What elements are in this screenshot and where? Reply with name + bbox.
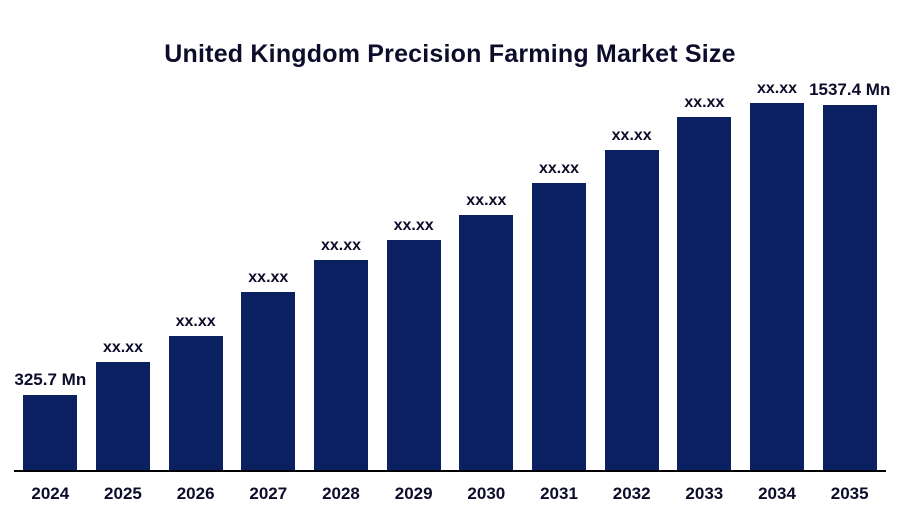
bar-group: xx.xx xyxy=(305,80,378,470)
x-tick-label: 2029 xyxy=(377,484,450,504)
x-tick-label: 2030 xyxy=(450,484,523,504)
bar[interactable] xyxy=(459,215,513,470)
plot-area: 325.7 Mn xx.xx xx.xx xx.xx xx.xx xx.xx xyxy=(14,80,886,472)
bar-group: xx.xx xyxy=(741,80,814,470)
bar[interactable] xyxy=(96,362,150,470)
bar-value-label: 1537.4 Mn xyxy=(809,80,890,100)
bar-group: xx.xx xyxy=(377,80,450,470)
bar-group: xx.xx xyxy=(668,80,741,470)
x-tick-label: 2034 xyxy=(741,484,814,504)
bar[interactable] xyxy=(677,117,731,470)
bar[interactable] xyxy=(823,105,877,470)
x-tick-label: 2035 xyxy=(813,484,886,504)
bar-value-label: xx.xx xyxy=(394,217,434,235)
bar-value-label: 325.7 Mn xyxy=(14,370,86,390)
bar-value-label: xx.xx xyxy=(466,192,506,210)
x-axis-tick-labels: 2024 2025 2026 2027 2028 2029 2030 2031 … xyxy=(14,484,886,504)
x-tick-label: 2033 xyxy=(668,484,741,504)
bar-group: xx.xx xyxy=(523,80,596,470)
x-tick-label: 2026 xyxy=(159,484,232,504)
x-tick-label: 2027 xyxy=(232,484,305,504)
x-tick-label: 2031 xyxy=(523,484,596,504)
bar[interactable] xyxy=(23,395,77,470)
bar-group: xx.xx xyxy=(450,80,523,470)
bar-value-label: xx.xx xyxy=(176,313,216,331)
bar-value-label: xx.xx xyxy=(103,339,143,357)
x-tick-label: 2032 xyxy=(595,484,668,504)
bar-group: xx.xx xyxy=(159,80,232,470)
bar-value-label: xx.xx xyxy=(539,160,579,178)
bar-group: 325.7 Mn xyxy=(14,80,87,470)
bar-group: xx.xx xyxy=(232,80,305,470)
x-tick-label: 2025 xyxy=(87,484,160,504)
bar[interactable] xyxy=(750,103,804,470)
x-tick-label: 2028 xyxy=(305,484,378,504)
chart-title: United Kingdom Precision Farming Market … xyxy=(0,40,900,69)
bar-value-label: xx.xx xyxy=(612,127,652,145)
bar[interactable] xyxy=(314,260,368,470)
bar-value-label: xx.xx xyxy=(248,269,288,287)
bar-series: 325.7 Mn xx.xx xx.xx xx.xx xx.xx xx.xx xyxy=(14,80,886,470)
bar-value-label: xx.xx xyxy=(684,94,724,112)
bar[interactable] xyxy=(532,183,586,470)
bar[interactable] xyxy=(387,240,441,470)
bar[interactable] xyxy=(169,336,223,470)
bar-value-label: xx.xx xyxy=(321,237,361,255)
x-axis-line xyxy=(14,470,886,472)
x-tick-label: 2024 xyxy=(14,484,87,504)
bar[interactable] xyxy=(605,150,659,470)
bar-group: xx.xx xyxy=(595,80,668,470)
chart-container: United Kingdom Precision Farming Market … xyxy=(0,0,900,525)
bar-group: xx.xx xyxy=(87,80,160,470)
bar[interactable] xyxy=(241,292,295,470)
bar-group: 1537.4 Mn xyxy=(813,80,886,470)
bar-value-label: xx.xx xyxy=(757,80,797,98)
